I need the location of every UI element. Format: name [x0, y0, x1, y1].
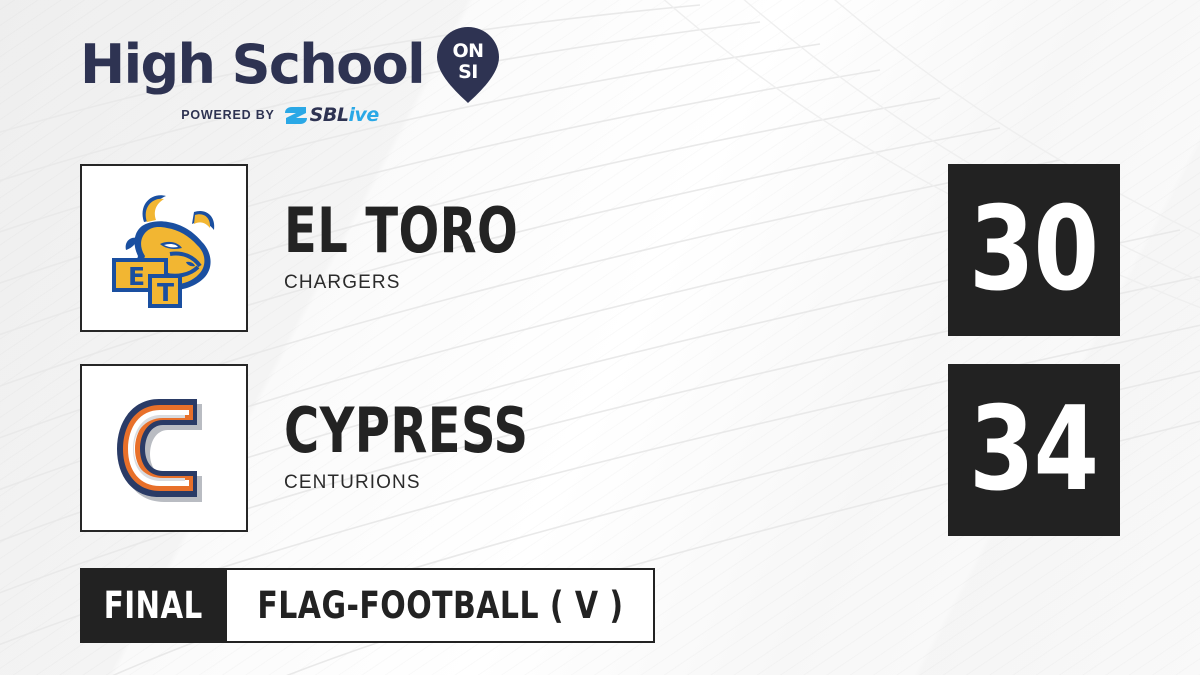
sblive-text-dark: SBL: [310, 104, 349, 126]
sblive-s-icon: [284, 106, 308, 125]
status-bar: FINAL FLAG-FOOTBALL ( V ): [80, 568, 655, 643]
sblive-wordmark: SBLive: [310, 106, 379, 125]
team-mascot: CHARGERS: [284, 272, 556, 294]
el-toro-bull-logo: E T: [98, 182, 230, 314]
svg-text:T: T: [157, 278, 174, 307]
sblive-text-blue: ive: [348, 104, 378, 126]
svg-text:SI: SI: [458, 61, 478, 83]
team-score: 30: [970, 192, 1099, 308]
team-logo-box: E T: [80, 164, 248, 332]
cypress-c-logo: [101, 385, 227, 511]
team-text-block: CYPRESS CENTURIONS: [284, 364, 568, 532]
sport-label-box: FLAG-FOOTBALL ( V ): [227, 568, 655, 643]
powered-by-row: POWERED BY SBLive: [80, 105, 480, 125]
page-title: High School: [80, 38, 424, 92]
svg-text:E: E: [128, 262, 145, 291]
sport-label: FLAG-FOOTBALL ( V ): [257, 584, 623, 627]
team-name: EL TORO: [284, 202, 518, 261]
status-badge: FINAL: [80, 568, 227, 643]
svg-text:ON: ON: [453, 40, 484, 62]
team-row: E T EL TORO CHARGERS 30: [0, 164, 1200, 336]
team-text-block: EL TORO CHARGERS: [284, 164, 556, 332]
scoreboard-graphic: High School ON SI POWERED BY SBLive: [0, 0, 1200, 675]
brand-wordmark-row: High School ON SI: [80, 34, 510, 96]
team-name: CYPRESS: [284, 402, 529, 461]
brand-header: High School ON SI POWERED BY SBLive: [80, 34, 510, 134]
team-row: CYPRESS CENTURIONS 34: [0, 364, 1200, 536]
team-score-box: 30: [948, 164, 1120, 336]
team-score-box: 34: [948, 364, 1120, 536]
team-logo-box: [80, 364, 248, 532]
team-mascot: CENTURIONS: [284, 472, 568, 494]
team-score: 34: [970, 392, 1099, 508]
map-pin-icon: ON SI: [436, 26, 500, 104]
powered-by-label: POWERED BY: [181, 108, 274, 122]
sblive-logo: SBLive: [284, 105, 379, 125]
status-state-label: FINAL: [104, 584, 203, 627]
